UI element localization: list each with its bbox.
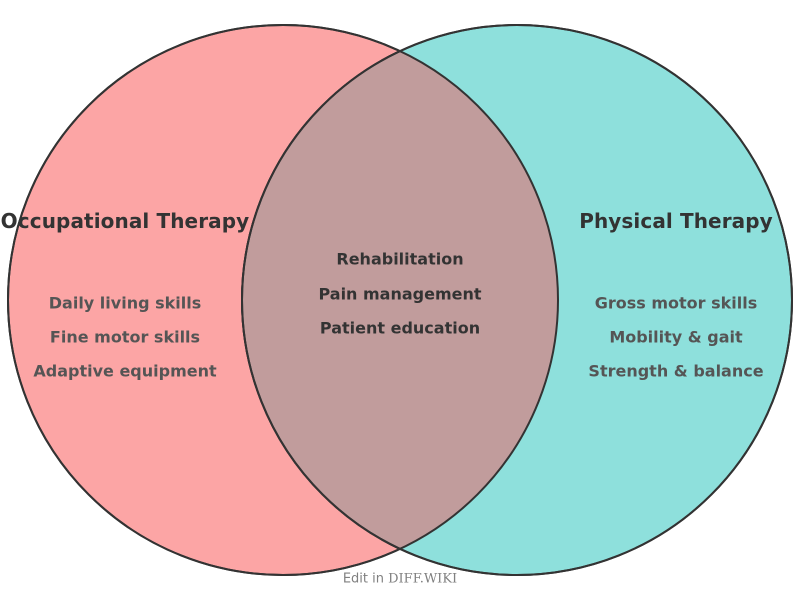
footer-brand-text: DIFF.WIKI	[388, 572, 457, 587]
venn-diagram-canvas: Occupational Therapy Daily living skills…	[0, 0, 800, 600]
edit-in-diffwiki-link[interactable]: Edit in DIFF.WIKI	[343, 572, 457, 587]
venn-circles	[0, 0, 800, 600]
footer-prefix-text: Edit in	[343, 572, 388, 587]
